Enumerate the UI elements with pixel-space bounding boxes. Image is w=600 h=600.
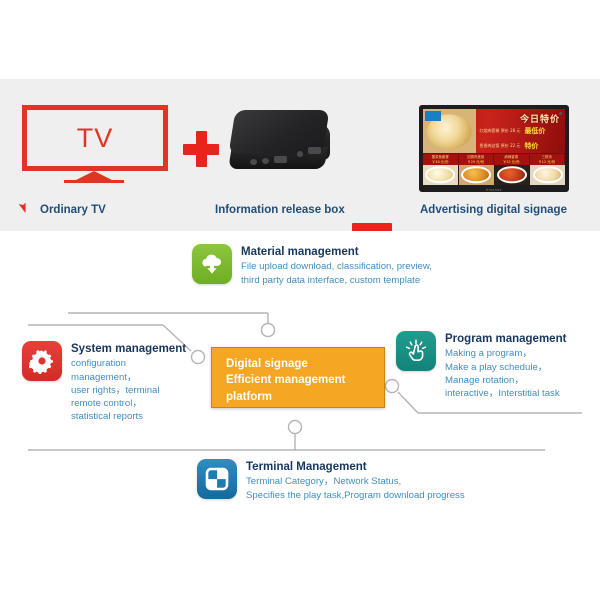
strip-price: ￥12 元/份 xyxy=(538,160,555,164)
plus-operator-icon xyxy=(183,131,219,167)
desc-line: user rights，terminal xyxy=(71,384,186,397)
caption-ordinary-tv: Ordinary TV xyxy=(40,204,106,216)
desc-line: remote control， xyxy=(71,397,186,410)
ordinary-tv-illustration: TV xyxy=(22,105,168,187)
center-line-3: platform xyxy=(226,389,384,405)
strip-name: 酸菜鱼套餐 xyxy=(432,155,449,159)
strip-price: ￥32 元/份 xyxy=(503,160,520,164)
product-comparison-band: TV xyxy=(0,79,600,231)
information-release-box-illustration xyxy=(222,107,336,179)
center-platform-box[interactable]: Digital signage Efficient management pla… xyxy=(211,347,385,408)
node-description: Making a program， Make a play schedule， … xyxy=(445,347,566,400)
signage-brand-label: Hisense xyxy=(486,188,502,192)
tv-screen-label: TV xyxy=(22,105,168,171)
desc-line: management， xyxy=(71,371,186,384)
node-terminal-management[interactable]: Terminal Management Terminal Category，Ne… xyxy=(197,459,465,502)
node-material-management[interactable]: Material management File upload download… xyxy=(192,244,432,287)
desc-line: configuration xyxy=(71,357,186,370)
node-system-management[interactable]: System management configuration manageme… xyxy=(22,341,186,423)
signage-row-price: 特价 xyxy=(524,141,538,151)
desc-line: Specifies the play task,Program download… xyxy=(246,489,465,502)
node-title: Material management xyxy=(241,245,432,259)
caption-advertising-digital-signage: Advertising digital signage xyxy=(420,204,567,216)
desc-line: Terminal Category，Network Status, xyxy=(246,475,465,488)
node-description: configuration management， user rights，te… xyxy=(71,357,186,423)
strip-price: ￥38 元/份 xyxy=(432,160,449,164)
desc-line: Manage rotation， xyxy=(445,374,566,387)
digital-signage-illustration: 今日特价 红烧肉套餐 原价 28 元 最低价 鱼香肉丝饭 原价 22 元 特价 xyxy=(419,105,569,192)
desc-line: File upload download, classification, pr… xyxy=(241,260,432,273)
node-description: Terminal Category，Network Status, Specif… xyxy=(246,475,465,501)
node-program-management[interactable]: Program management Making a program， Mak… xyxy=(396,331,566,400)
node-description: File upload download, classification, pr… xyxy=(241,260,432,286)
strip-price: ￥25 元/份 xyxy=(467,160,484,164)
signage-headline: 今日特价 xyxy=(520,112,560,125)
center-line-1: Digital signage xyxy=(226,356,384,372)
platform-feature-diagram: Digital signage Efficient management pla… xyxy=(0,231,600,600)
caption-information-release-box: Information release box xyxy=(215,204,345,216)
desc-line: third party data interface, custom templ… xyxy=(241,274,432,287)
center-line-2: Efficient management xyxy=(226,372,384,388)
signage-row-label: 鱼香肉丝饭 原价 22 元 xyxy=(480,143,521,148)
desc-line: Make a play schedule， xyxy=(445,361,566,374)
signage-row-price: 最低价 xyxy=(524,126,545,136)
cloud-download-icon xyxy=(192,244,232,284)
gear-icon xyxy=(22,341,62,381)
desc-line: statistical reports xyxy=(71,410,186,423)
center-platform-label: Digital signage Efficient management pla… xyxy=(212,348,384,405)
desc-line: Making a program， xyxy=(445,347,566,360)
node-title: Terminal Management xyxy=(246,460,465,474)
node-title: System management xyxy=(71,342,186,356)
signage-indicator-led xyxy=(559,112,562,115)
four-squares-icon xyxy=(197,459,237,499)
desc-line: interactive，Interstitial task xyxy=(445,387,566,400)
tv-stand-base-icon xyxy=(64,180,124,183)
cursor-arrow-icon xyxy=(16,200,28,212)
hand-click-icon xyxy=(396,331,436,371)
node-title: Program management xyxy=(445,332,566,346)
signage-row-label: 红烧肉套餐 原价 28 元 xyxy=(480,128,521,133)
